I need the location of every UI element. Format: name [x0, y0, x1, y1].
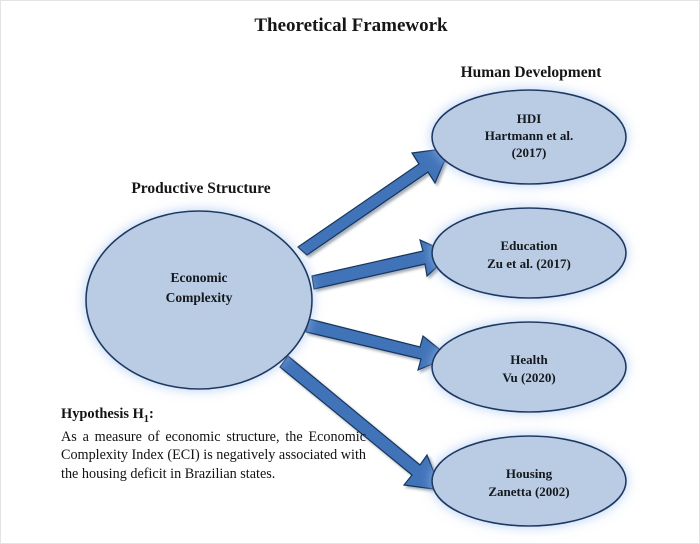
node-housing-line2: Zanetta (2002) [488, 484, 569, 499]
node-hdi[interactable]: HDI Hartmann et al. (2017) [432, 90, 626, 184]
node-hdi-line2: Hartmann et al. [485, 128, 573, 143]
hypothesis-body: As a measure of economic structure, the … [61, 428, 366, 484]
node-economic-complexity-line2: Complexity [166, 290, 233, 305]
node-hdi-line3: (2017) [512, 145, 547, 160]
node-health[interactable]: Health Vu (2020) [432, 322, 626, 412]
node-housing[interactable]: Housing Zanetta (2002) [432, 436, 626, 526]
node-education-line1: Education [500, 238, 558, 253]
node-economic-complexity-line1: Economic [171, 270, 228, 285]
arrow-to-health [306, 319, 449, 370]
node-education-line2: Zu et al. (2017) [487, 256, 571, 271]
hypothesis-block: Hypothesis H1: As a measure of economic … [61, 405, 366, 484]
theoretical-framework-diagram: Theoretical Framework Productive Structu… [0, 0, 700, 544]
node-education[interactable]: Education Zu et al. (2017) [432, 208, 626, 298]
page-title: Theoretical Framework [254, 15, 448, 36]
hypothesis-colon: : [149, 406, 154, 422]
node-economic-complexity[interactable]: Economic Complexity [86, 211, 312, 389]
node-health-shape [432, 322, 626, 412]
node-health-line2: Vu (2020) [502, 370, 555, 385]
hypothesis-label-text: Hypothesis H [61, 406, 144, 422]
arrow-to-education [312, 240, 451, 289]
node-health-line1: Health [510, 352, 548, 367]
group-label-left: Productive Structure [131, 180, 270, 197]
node-hdi-line1: HDI [517, 111, 542, 126]
group-label-right: Human Development [461, 64, 603, 81]
arrow-to-hdi [298, 148, 450, 255]
node-education-shape [432, 208, 626, 298]
node-housing-line1: Housing [506, 466, 553, 481]
hypothesis-label: Hypothesis H1: [61, 405, 366, 427]
node-housing-shape [432, 436, 626, 526]
